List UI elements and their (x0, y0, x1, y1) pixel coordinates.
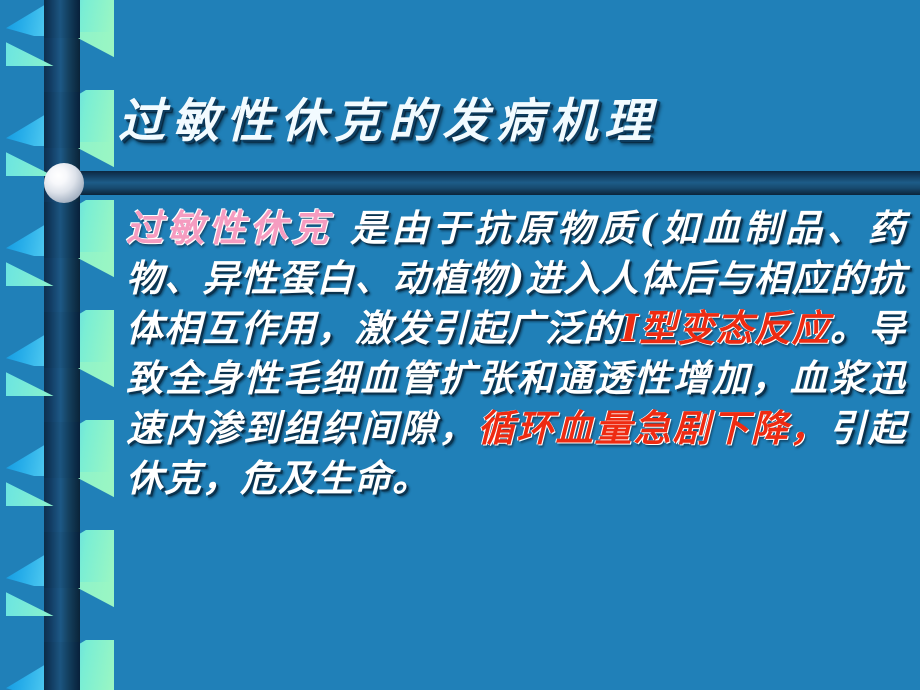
divider-ball-icon (44, 163, 84, 203)
ribbon-pole-segment (44, 422, 80, 478)
body-highlight-1: I型变态反应 (621, 306, 830, 350)
title-divider-bar (62, 171, 920, 195)
ribbon-pole-segment (44, 312, 80, 368)
slide-body-text: 过敏性休克 是由于抗原物质(如血制品、药物、异性蛋白、动植物)进入人体后与相应的… (126, 203, 906, 503)
ribbon-pole-segment (44, 0, 80, 38)
presentation-slide: 过敏性休克的发病机理 过敏性休克 是由于抗原物质(如血制品、药物、异性蛋白、动植… (0, 0, 920, 690)
ribbon-pole-segment (44, 642, 80, 690)
page-title: 过敏性休克的发病机理 (118, 82, 658, 151)
ribbon-pole-segment (44, 532, 80, 588)
body-highlight-2: 循环血量急剧下降， (477, 406, 828, 450)
body-lead-term: 过敏性休克 (126, 206, 333, 250)
ribbon-pole-segment (44, 202, 80, 258)
ribbon-pole-segment (44, 92, 80, 148)
